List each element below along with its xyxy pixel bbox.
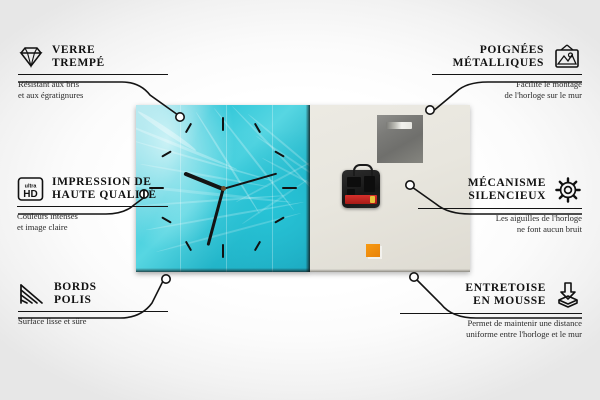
clock-tick (222, 117, 224, 131)
callout-title: BORDS POLIS (54, 281, 97, 307)
connector-dot-entretoise (410, 273, 418, 281)
ultra-hd-icon: ultra HD (17, 176, 44, 202)
callout-bords-polis: BORDS POLIS Surface lisse et sûre (18, 281, 168, 327)
callout-poignees-metalliques: POIGNÉES MÉTALLIQUES Facilite le montage… (432, 44, 582, 100)
diamond-icon (18, 45, 44, 69)
callout-title: ENTRETOISE EN MOUSSE (465, 282, 546, 308)
callout-heading: BORDS POLIS (18, 281, 168, 307)
clock-tick (222, 244, 224, 258)
callout-divider (18, 311, 168, 312)
callout-heading: POIGNÉES MÉTALLIQUES (432, 44, 582, 70)
callout-title: MÉCANISME SILENCIEUX (468, 177, 546, 203)
clock-tick (274, 216, 285, 223)
mechanism-loop (353, 164, 373, 176)
callout-heading: VERRE TREMPÉ (18, 44, 168, 70)
clock-tick (185, 123, 192, 134)
callout-divider (432, 74, 582, 75)
picture-frame-icon (552, 44, 582, 70)
gear-icon (554, 176, 582, 204)
callout-title: POIGNÉES MÉTALLIQUES (453, 44, 544, 70)
callout-heading: ENTRETOISE EN MOUSSE (400, 281, 582, 309)
infographic-stage: VERRE TREMPÉ Résistant aux bris et aux é… (0, 0, 600, 400)
clock-mechanism (342, 170, 380, 208)
clock-second-hand (223, 173, 277, 190)
clock-tick (282, 187, 297, 189)
callout-divider (418, 208, 582, 209)
callout-title: VERRE TREMPÉ (52, 44, 105, 70)
callout-verre-trempe: VERRE TREMPÉ Résistant aux bris et aux é… (18, 44, 168, 100)
callout-entretoise-en-mousse: ENTRETOISE EN MOUSSE Permet de maintenir… (400, 281, 582, 339)
clock-tick (254, 241, 261, 252)
battery (345, 195, 377, 204)
clock-tick (274, 150, 285, 157)
callout-mecanisme-silencieux: MÉCANISME SILENCIEUX (418, 176, 582, 234)
clock-tick (149, 187, 164, 189)
clock-hour-hand (183, 171, 223, 190)
clock-center-pin (221, 186, 226, 191)
foam-spacer (366, 244, 380, 257)
clock-minute-hand (207, 189, 225, 246)
clock-tick (161, 216, 172, 223)
clock-tick (185, 241, 192, 252)
clock-tick (161, 150, 172, 157)
callout-heading: MÉCANISME SILENCIEUX (418, 176, 582, 204)
polished-edge-icon (18, 282, 46, 306)
metal-hanger-plate (377, 115, 423, 163)
svg-text:HD: HD (23, 189, 37, 200)
callout-divider (400, 313, 582, 314)
press-down-icon (554, 281, 582, 309)
clock-dial (136, 105, 310, 272)
callout-divider (18, 74, 168, 75)
clock-tick (254, 123, 261, 134)
hanger-slot (386, 122, 412, 129)
